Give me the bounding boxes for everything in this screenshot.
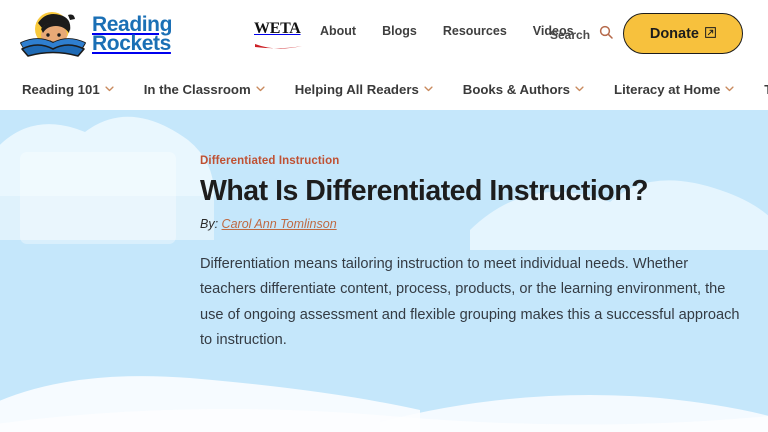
article-hero: Differentiated Instruction What Is Diffe… (0, 110, 768, 432)
nav-item-label: Topics (764, 82, 768, 97)
byline-prefix: By: (200, 217, 218, 231)
external-link-icon (705, 26, 716, 42)
nav-item-reading-101[interactable]: Reading 101 (22, 82, 114, 97)
page-root: Reading Rockets WETA About Blogs Resourc… (0, 0, 768, 432)
utility-link-about[interactable]: About (320, 24, 356, 38)
child-reading-book-logo-icon (18, 9, 88, 59)
search-control[interactable]: Search (550, 25, 613, 44)
logo-line-2: Rockets (92, 34, 172, 53)
hero-content: Differentiated Instruction What Is Diffe… (200, 110, 752, 353)
utility-link-blogs[interactable]: Blogs (382, 24, 417, 38)
nav-item-books-and-authors[interactable]: Books & Authors (463, 82, 584, 97)
chevron-down-icon (424, 86, 433, 92)
chevron-down-icon (575, 86, 584, 92)
utility-nav: About Blogs Resources Videos (320, 24, 574, 38)
nav-item-in-the-classroom[interactable]: In the Classroom (144, 82, 265, 97)
site-header: Reading Rockets WETA About Blogs Resourc… (0, 0, 768, 68)
nav-item-label: Helping All Readers (295, 82, 419, 97)
chevron-down-icon (256, 86, 265, 92)
article-byline: By: Carol Ann Tomlinson (200, 217, 752, 231)
site-logo-wordmark: Reading Rockets (92, 15, 172, 54)
nav-item-label: Books & Authors (463, 82, 570, 97)
main-nav-list: Reading 101 In the Classroom Helping All… (0, 82, 768, 97)
nav-item-label: Reading 101 (22, 82, 100, 97)
weta-logo-text: WETA (254, 20, 301, 37)
author-link[interactable]: Carol Ann Tomlinson (222, 217, 337, 231)
utility-link-resources[interactable]: Resources (443, 24, 507, 38)
donate-button[interactable]: Donate (623, 13, 743, 54)
nav-item-label: In the Classroom (144, 82, 251, 97)
weta-logo[interactable]: WETA (254, 20, 306, 46)
nav-item-helping-all-readers[interactable]: Helping All Readers (295, 82, 433, 97)
chevron-down-icon (105, 86, 114, 92)
chevron-down-icon (725, 86, 734, 92)
article-summary: Differentiation means tailoring instruct… (200, 252, 745, 352)
donate-button-label: Donate (650, 26, 699, 42)
page-title: What Is Differentiated Instruction? (200, 176, 752, 207)
nav-item-literacy-at-home[interactable]: Literacy at Home (614, 82, 734, 97)
nav-item-label: Literacy at Home (614, 82, 720, 97)
article-hero-image-placeholder (20, 152, 176, 244)
search-label: Search (550, 28, 590, 42)
article-topic-label[interactable]: Differentiated Instruction (200, 155, 752, 167)
search-icon[interactable] (599, 25, 613, 44)
weta-swoosh-icon (254, 42, 306, 51)
nav-item-topics[interactable]: Topics (764, 82, 768, 97)
site-logo[interactable]: Reading Rockets (18, 8, 188, 60)
main-navigation: Reading 101 In the Classroom Helping All… (0, 68, 768, 110)
